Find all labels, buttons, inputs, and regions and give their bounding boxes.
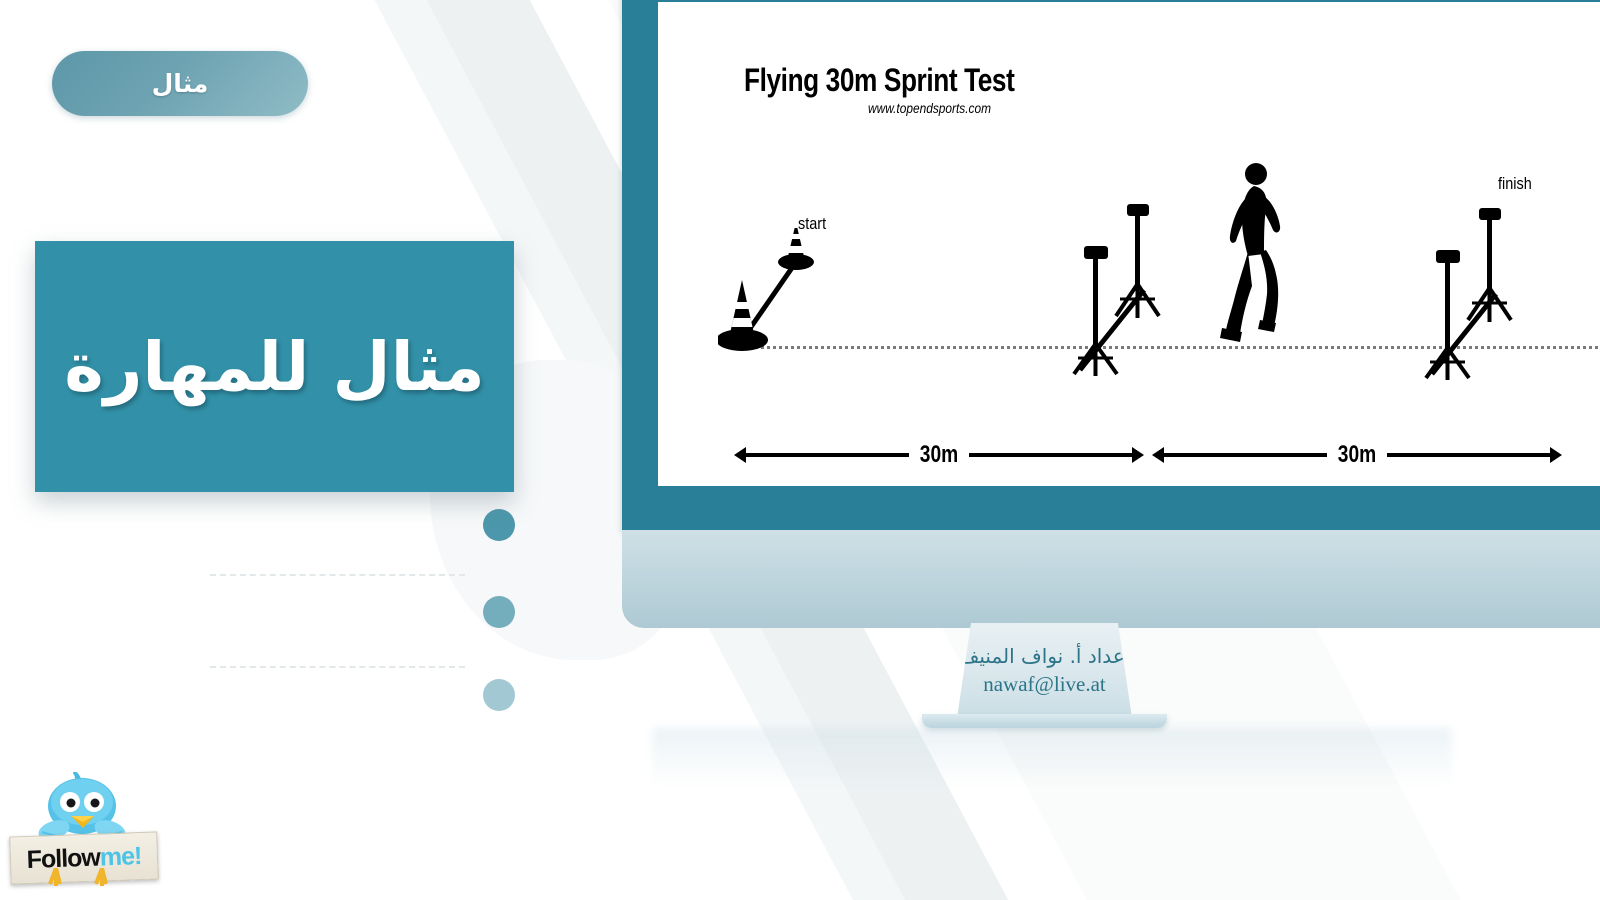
arrow-right-icon <box>1550 447 1562 463</box>
twitter-follow-badge[interactable]: Followme! <box>8 772 160 890</box>
dimension-bar <box>1387 453 1550 457</box>
monitor-stand-neck: إعداد أ. نواف المنيف nawaf@live.at <box>957 623 1132 718</box>
monitor-base <box>922 714 1167 728</box>
me-text: me! <box>99 842 141 871</box>
bullet-list <box>0 495 560 735</box>
bullet-dot-3 <box>483 679 515 711</box>
bullet-divider-2 <box>210 666 465 668</box>
dimension-segment-1: 30m <box>734 442 1144 468</box>
example-tag-pill[interactable]: مثال <box>52 51 308 116</box>
arrow-right-icon <box>1132 447 1144 463</box>
monitor-reflection <box>652 728 1452 788</box>
arrow-left-icon <box>734 447 746 463</box>
dimension-bar <box>1164 453 1327 457</box>
skill-example-title-box: مثال للمهارة <box>35 241 514 492</box>
distance-dimensions: 30m 30m <box>734 442 1554 468</box>
dimension-label-2: 30m <box>1338 441 1376 469</box>
arrow-left-icon <box>1152 447 1164 463</box>
runner-icon <box>1220 160 1290 350</box>
monitor-screen: Flying 30m Sprint Test www.topendsports.… <box>658 2 1600 486</box>
bullet-dot-2 <box>483 596 515 628</box>
credit-email: nawaf@live.at <box>983 672 1106 697</box>
page-title: مثال للمهارة <box>64 328 484 406</box>
monitor-mockup: Flying 30m Sprint Test www.topendsports.… <box>622 0 1600 548</box>
monitor-body <box>622 530 1600 628</box>
diagram-source-url: www.topendsports.com <box>868 100 991 116</box>
dimension-bar <box>969 453 1132 457</box>
sprint-test-diagram: Flying 30m Sprint Test www.topendsports.… <box>658 2 1600 486</box>
bird-feet-icon <box>46 868 118 890</box>
start-cones-icon <box>718 228 828 358</box>
dimension-segment-2: 30m <box>1152 442 1562 468</box>
example-tag-label: مثال <box>152 69 209 98</box>
finish-timing-gate-icon <box>1418 202 1558 382</box>
bullet-divider-1 <box>210 574 465 576</box>
dimension-label-1: 30m <box>920 441 958 469</box>
mid-timing-gate-icon <box>1066 198 1196 378</box>
dimension-bar <box>746 453 909 457</box>
finish-label: finish <box>1498 174 1532 194</box>
bullet-dot-1 <box>483 509 515 541</box>
diagram-title: Flying 30m Sprint Test <box>744 62 1014 99</box>
monitor-bezel: Flying 30m Sprint Test www.topendsports.… <box>622 0 1600 530</box>
credit-arabic: إعداد أ. نواف المنيف <box>959 644 1131 668</box>
